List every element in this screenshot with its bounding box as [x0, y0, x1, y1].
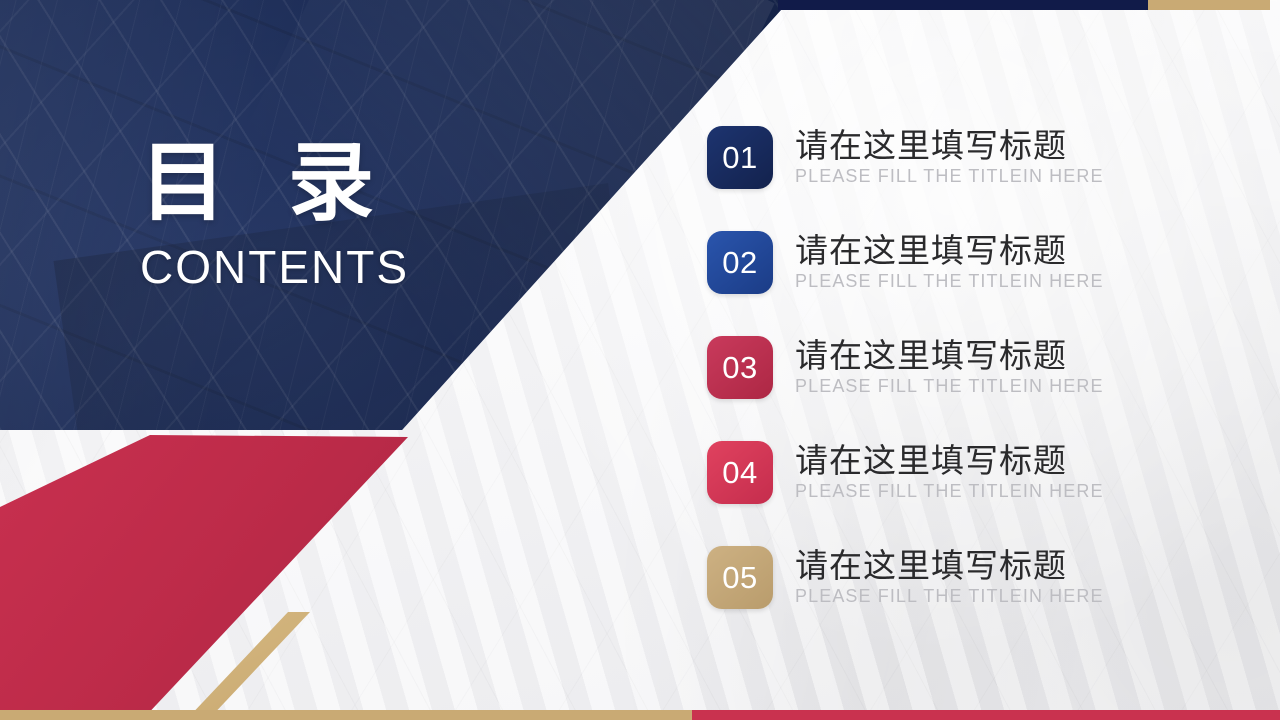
contents-item-title: 请在这里填写标题 [795, 547, 1104, 585]
top-navy-accent-bar [778, 0, 1148, 10]
contents-item-title: 请在这里填写标题 [795, 337, 1104, 375]
contents-item-text: 请在这里填写标题 PLEASE FILL THE TITLEIN HERE [795, 336, 1104, 398]
contents-item-subtitle: PLEASE FILL THE TITLEIN HERE [795, 166, 1104, 188]
top-gold-accent-bar [1148, 0, 1270, 10]
contents-item-subtitle: PLEASE FILL THE TITLEIN HERE [795, 586, 1104, 608]
slide-title-block: 目 录 CONTENTS [140, 140, 560, 294]
contents-number-badge[interactable]: 03 [707, 336, 773, 399]
contents-item-subtitle: PLEASE FILL THE TITLEIN HERE [795, 481, 1104, 503]
contents-item-title: 请在这里填写标题 [795, 232, 1104, 270]
contents-item-title: 请在这里填写标题 [795, 127, 1104, 165]
list-item[interactable]: 03 请在这里填写标题 PLEASE FILL THE TITLEIN HERE [707, 336, 1177, 402]
contents-item-text: 请在这里填写标题 PLEASE FILL THE TITLEIN HERE [795, 231, 1104, 293]
page-title-en: CONTENTS [140, 240, 560, 294]
list-item[interactable]: 02 请在这里填写标题 PLEASE FILL THE TITLEIN HERE [707, 231, 1177, 297]
presentation-slide: 目 录 CONTENTS 01 请在这里填写标题 PLEASE FILL THE… [0, 0, 1280, 720]
list-item[interactable]: 04 请在这里填写标题 PLEASE FILL THE TITLEIN HERE [707, 441, 1177, 507]
contents-number-badge[interactable]: 01 [707, 126, 773, 189]
contents-item-subtitle: PLEASE FILL THE TITLEIN HERE [795, 271, 1104, 293]
bottom-crimson-accent-bar [692, 710, 1280, 720]
contents-item-text: 请在这里填写标题 PLEASE FILL THE TITLEIN HERE [795, 546, 1104, 608]
contents-item-text: 请在这里填写标题 PLEASE FILL THE TITLEIN HERE [795, 126, 1104, 188]
contents-item-title: 请在这里填写标题 [795, 442, 1104, 480]
page-title-cn: 目 录 [140, 140, 560, 226]
contents-item-text: 请在这里填写标题 PLEASE FILL THE TITLEIN HERE [795, 441, 1104, 503]
contents-number-badge[interactable]: 04 [707, 441, 773, 504]
list-item[interactable]: 05 请在这里填写标题 PLEASE FILL THE TITLEIN HERE [707, 546, 1177, 612]
contents-number-badge[interactable]: 05 [707, 546, 773, 609]
contents-item-subtitle: PLEASE FILL THE TITLEIN HERE [795, 376, 1104, 398]
bottom-gold-accent-bar [0, 710, 692, 720]
contents-number-badge[interactable]: 02 [707, 231, 773, 294]
contents-list: 01 请在这里填写标题 PLEASE FILL THE TITLEIN HERE… [707, 126, 1177, 612]
list-item[interactable]: 01 请在这里填写标题 PLEASE FILL THE TITLEIN HERE [707, 126, 1177, 192]
